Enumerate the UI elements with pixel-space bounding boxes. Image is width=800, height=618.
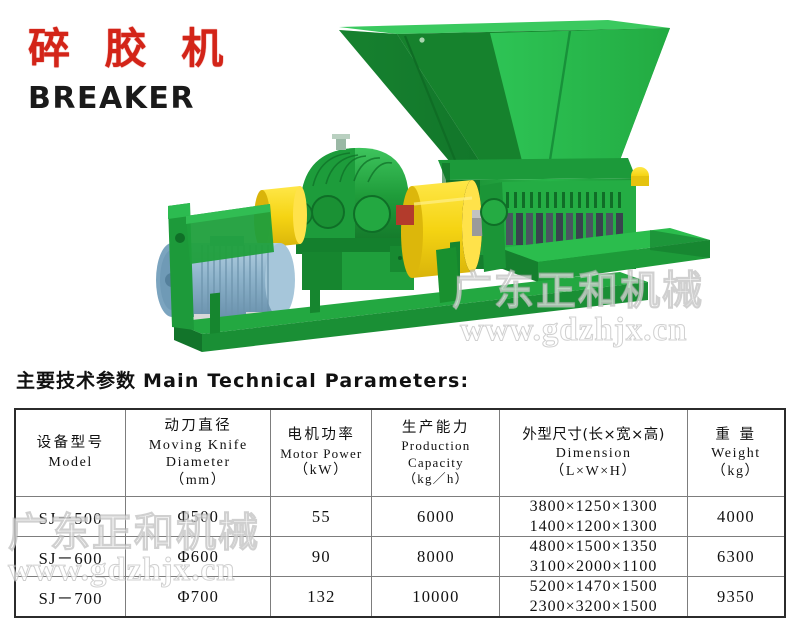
col-header-model-cn: 设备型号 bbox=[18, 434, 123, 454]
machine-illustration bbox=[150, 0, 800, 362]
col-header-knife: 动刀直径 Moving Knife Diameter （mm） bbox=[126, 409, 271, 497]
col-header-power-en: Motor Power bbox=[273, 446, 369, 462]
col-header-knife-unit: （mm） bbox=[128, 472, 268, 490]
table-header-row: 设备型号 Model 动刀直径 Moving Knife Diameter （m… bbox=[15, 409, 785, 497]
cell-model: SJ－600 bbox=[15, 537, 126, 577]
table-body: SJ－500 Φ500 55 6000 3800×1250×1300 1400×… bbox=[15, 497, 785, 618]
col-header-capacity-unit: （kg／h） bbox=[374, 471, 497, 487]
cell-dimension-line1: 3800×1250×1300 bbox=[500, 497, 687, 517]
cell-dimension-line2: 1400×1200×1300 bbox=[500, 517, 687, 537]
col-header-weight-cn: 重 量 bbox=[690, 426, 782, 446]
cell-knife: Φ600 bbox=[126, 537, 271, 577]
params-heading-cn: 主要技术参数 bbox=[16, 370, 136, 392]
table-row: SJ－500 Φ500 55 6000 3800×1250×1300 1400×… bbox=[15, 497, 785, 537]
col-header-capacity-cn: 生产能力 bbox=[374, 419, 497, 439]
col-header-weight-unit: （kg） bbox=[690, 463, 782, 481]
specifications-table: 设备型号 Model 动刀直径 Moving Knife Diameter （m… bbox=[14, 408, 786, 618]
params-heading-en: Main Technical Parameters: bbox=[143, 370, 469, 392]
table-head: 设备型号 Model 动刀直径 Moving Knife Diameter （m… bbox=[15, 409, 785, 497]
cell-knife: Φ700 bbox=[126, 577, 271, 618]
col-header-weight: 重 量 Weight （kg） bbox=[687, 409, 785, 497]
page-title-cn: 碎 胶 机 bbox=[28, 28, 233, 70]
col-header-capacity-en2: Capacity bbox=[374, 455, 497, 471]
cell-dimension-line2: 2300×3200×1500 bbox=[500, 597, 687, 617]
cell-dimension: 5200×1470×1500 2300×3200×1500 bbox=[500, 577, 688, 618]
cell-capacity: 8000 bbox=[372, 537, 500, 577]
cell-dimension-line1: 5200×1470×1500 bbox=[500, 577, 687, 597]
params-heading: 主要技术参数Main Technical Parameters: bbox=[16, 366, 469, 393]
cell-dimension: 3800×1250×1300 1400×1200×1300 bbox=[500, 497, 688, 537]
cell-power: 132 bbox=[271, 577, 372, 618]
cell-weight: 6300 bbox=[687, 537, 785, 577]
col-header-power: 电机功率 Motor Power （kW） bbox=[271, 409, 372, 497]
cell-power: 55 bbox=[271, 497, 372, 537]
cell-power: 90 bbox=[271, 537, 372, 577]
col-header-dimension: 外型尺寸(长×宽×高) Dimension （L×W×H） bbox=[500, 409, 688, 497]
cell-capacity: 6000 bbox=[372, 497, 500, 537]
cell-model: SJ－500 bbox=[15, 497, 126, 537]
col-header-capacity: 生产能力 Production Capacity （kg／h） bbox=[372, 409, 500, 497]
cell-knife: Φ500 bbox=[126, 497, 271, 537]
cell-weight: 4000 bbox=[687, 497, 785, 537]
col-header-model: 设备型号 Model bbox=[15, 409, 126, 497]
col-header-capacity-en: Production bbox=[374, 438, 497, 454]
feed-hopper bbox=[339, 20, 670, 162]
col-header-dimension-cn: 外型尺寸(长×宽×高) bbox=[502, 426, 685, 446]
col-header-dimension-en: Dimension bbox=[502, 445, 685, 463]
cell-weight: 9350 bbox=[687, 577, 785, 618]
page-title-en: BREAKER bbox=[28, 84, 233, 114]
col-header-knife-en: Moving Knife bbox=[128, 437, 268, 455]
cell-dimension: 4800×1500×1350 3100×2000×1100 bbox=[500, 537, 688, 577]
col-header-dimension-unit: （L×W×H） bbox=[502, 463, 685, 481]
cell-dimension-line2: 3100×2000×1100 bbox=[500, 557, 687, 577]
cell-capacity: 10000 bbox=[372, 577, 500, 618]
col-header-model-en: Model bbox=[18, 454, 123, 472]
title-block: 碎 胶 机 BREAKER bbox=[28, 28, 233, 114]
col-header-power-cn: 电机功率 bbox=[273, 426, 369, 446]
shaft-cap-right bbox=[631, 167, 649, 186]
product-photo bbox=[150, 0, 800, 362]
cell-dimension-line1: 4800×1500×1350 bbox=[500, 537, 687, 557]
col-header-weight-en: Weight bbox=[690, 445, 782, 463]
table-row: SJ－700 Φ700 132 10000 5200×1470×1500 230… bbox=[15, 577, 785, 618]
col-header-knife-en2: Diameter bbox=[128, 454, 268, 472]
col-header-knife-cn: 动刀直径 bbox=[128, 417, 268, 437]
cell-model: SJ－700 bbox=[15, 577, 126, 618]
col-header-power-unit: （kW） bbox=[273, 462, 369, 480]
table-row: SJ－600 Φ600 90 8000 4800×1500×1350 3100×… bbox=[15, 537, 785, 577]
